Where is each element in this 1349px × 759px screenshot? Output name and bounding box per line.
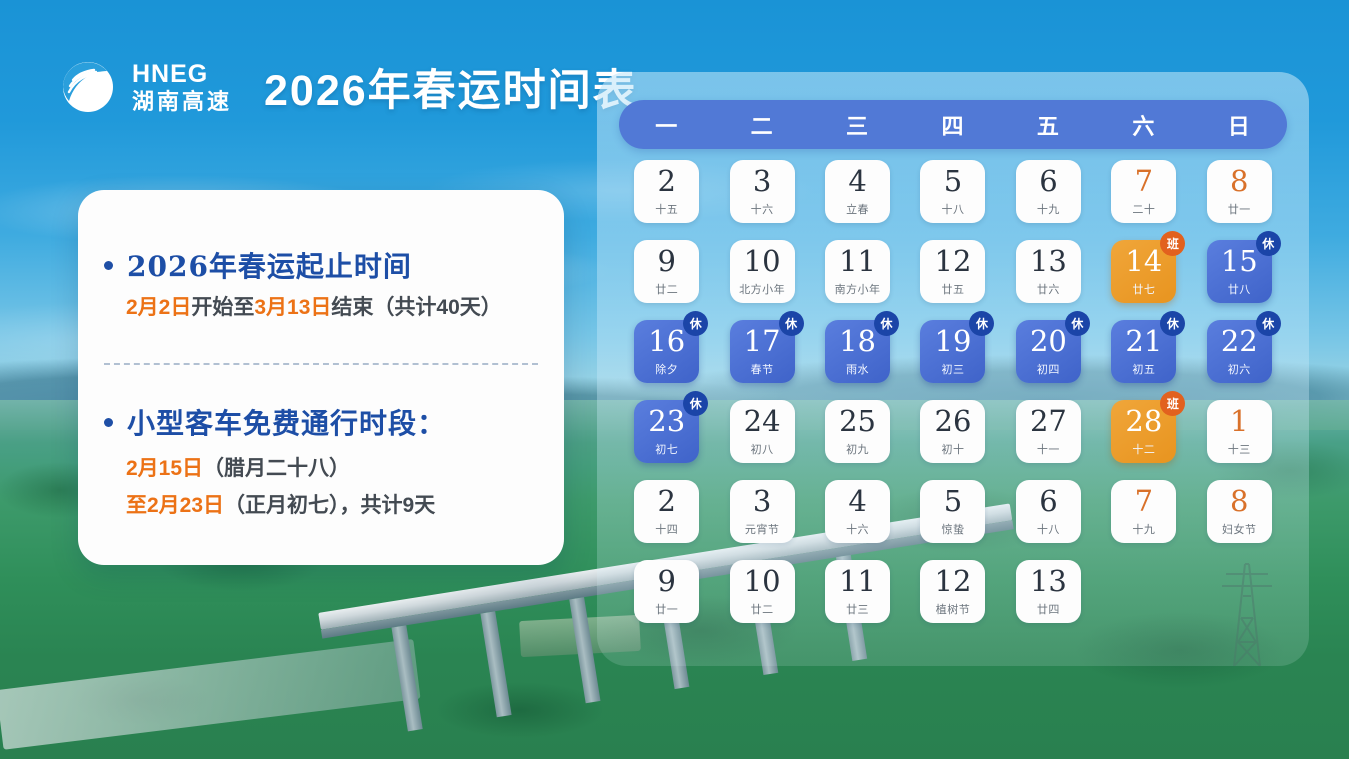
holiday-badge: 休: [1256, 311, 1281, 336]
calendar-day-cell[interactable]: 8廿一: [1207, 160, 1272, 223]
day-lunar-label: 十九: [1037, 201, 1060, 217]
weekday-label-4: 四: [905, 109, 1000, 141]
day-lunar-label: 立春: [846, 201, 869, 217]
day-lunar-label: 初五: [1132, 361, 1155, 377]
day-lunar-label: 廿五: [941, 281, 964, 297]
calendar-day-cell[interactable]: 3元宵节: [730, 480, 795, 543]
calendar-cell-wrap: 1十三: [1192, 400, 1287, 463]
day-number: 3: [753, 167, 771, 196]
day-number: 8: [1230, 487, 1248, 516]
calendar-cell-wrap: 20初四休: [1001, 320, 1096, 383]
day-number: 15: [1221, 247, 1258, 276]
holiday-badge: 休: [1256, 231, 1281, 256]
calendar-day-cell[interactable]: 10北方小年: [730, 240, 795, 303]
day-lunar-label: 廿七: [1132, 281, 1155, 297]
weekday-label-5: 五: [1001, 109, 1096, 141]
day-lunar-label: 初八: [751, 441, 774, 457]
day-number: 7: [1135, 167, 1153, 196]
calendar-cell-wrap: 6十九: [1001, 160, 1096, 223]
day-number: 12: [935, 247, 972, 276]
day-number: 19: [935, 327, 972, 356]
day-lunar-label: 十一: [1037, 441, 1060, 457]
section-2-heading: 小型客车免费通行时段：: [127, 402, 446, 442]
poster-canvas: HNEG 湖南高速 2026年春运时间表 2026年春运起止时间 2月2日开始至…: [0, 0, 1349, 759]
calendar-day-cell[interactable]: 23初七休: [634, 400, 699, 463]
brand-logotype: HNEG 湖南高速: [132, 62, 232, 113]
weekday-label-2: 二: [714, 109, 809, 141]
calendar-cell-wrap: 4立春: [810, 160, 905, 223]
calendar-day-cell[interactable]: 14廿七班: [1111, 240, 1176, 303]
day-number: 5: [944, 487, 962, 516]
calendar-cell-wrap: 7十九: [1096, 480, 1191, 543]
day-number: 3: [753, 487, 771, 516]
holiday-badge: 休: [1065, 311, 1090, 336]
calendar-cell-wrap: 13廿六: [1001, 240, 1096, 303]
calendar-day-cell[interactable]: 26初十: [920, 400, 985, 463]
day-lunar-label: 元宵节: [745, 521, 780, 537]
day-number: 1: [1230, 407, 1248, 436]
day-number: 2: [657, 167, 675, 196]
calendar-cell-wrap: 10廿二: [714, 560, 809, 623]
day-number: 22: [1221, 327, 1258, 356]
day-lunar-label: 初十: [941, 441, 964, 457]
day-number: 7: [1135, 487, 1153, 516]
day-number: 17: [744, 327, 781, 356]
section-1-body: 2月2日开始至3月13日结束（共计40天）: [126, 291, 502, 321]
section-1-heading: 2026年春运起止时间: [127, 245, 412, 285]
calendar-day-cell[interactable]: 9廿一: [634, 560, 699, 623]
day-lunar-label: 妇女节: [1222, 521, 1257, 537]
day-lunar-label: 廿四: [1037, 601, 1060, 617]
section-2-heading-row: 小型客车免费通行时段：: [104, 402, 446, 442]
day-lunar-label: 十三: [1228, 441, 1251, 457]
calendar-day-cell[interactable]: 8妇女节: [1207, 480, 1272, 543]
day-number: 28: [1125, 407, 1162, 436]
calendar-day-cell[interactable]: 17春节休: [730, 320, 795, 383]
calendar-cell-wrap: 26初十: [905, 400, 1000, 463]
calendar-day-cell[interactable]: 10廿二: [730, 560, 795, 623]
day-number: 6: [1039, 487, 1057, 516]
day-lunar-label: 植树节: [936, 601, 971, 617]
calendar-day-cell[interactable]: 13廿六: [1016, 240, 1081, 303]
calendar-day-cell[interactable]: 4立春: [825, 160, 890, 223]
calendar-cell-empty: [1207, 560, 1272, 623]
day-number: 23: [648, 407, 685, 436]
day-number: 8: [1230, 167, 1248, 196]
calendar-day-cell[interactable]: 27十一: [1016, 400, 1081, 463]
calendar-day-cell[interactable]: 1十三: [1207, 400, 1272, 463]
calendar-day-cell[interactable]: 2十五: [634, 160, 699, 223]
calendar-cell-wrap: 6十八: [1001, 480, 1096, 543]
calendar-cell-wrap: [1096, 560, 1191, 623]
accent-text: 2月2日: [126, 296, 191, 319]
day-lunar-label: 初九: [846, 441, 869, 457]
day-lunar-label: 廿六: [1037, 281, 1060, 297]
day-lunar-label: 二十: [1132, 201, 1155, 217]
calendar-cell-wrap: 16除夕休: [619, 320, 714, 383]
day-number: 13: [1030, 567, 1067, 596]
calendar-cell-wrap: 4十六: [810, 480, 905, 543]
day-lunar-label: 廿三: [846, 601, 869, 617]
calendar-day-cell[interactable]: 4十六: [825, 480, 890, 543]
day-number: 4: [848, 487, 866, 516]
day-lunar-label: 十二: [1132, 441, 1155, 457]
normal-text: 结束（共计40天）: [331, 296, 501, 319]
day-number: 27: [1030, 407, 1067, 436]
workday-badge: 班: [1160, 391, 1185, 416]
calendar-day-cell[interactable]: 3十六: [730, 160, 795, 223]
calendar-day-cell[interactable]: 25初九: [825, 400, 890, 463]
day-lunar-label: 初四: [1037, 361, 1060, 377]
day-number: 20: [1030, 327, 1067, 356]
calendar-day-cell[interactable]: 6十九: [1016, 160, 1081, 223]
calendar-cell-wrap: 5十八: [905, 160, 1000, 223]
brand-logo-cn: 湖南高速: [132, 91, 232, 113]
accent-text: 至2月23日: [126, 494, 224, 517]
calendar-day-cell[interactable]: 24初八: [730, 400, 795, 463]
bullet-dot-icon: [104, 418, 113, 427]
calendar-cell-wrap: 18雨水休: [810, 320, 905, 383]
card-divider: [104, 363, 538, 365]
day-number: 13: [1030, 247, 1067, 276]
holiday-badge: 休: [683, 311, 708, 336]
day-lunar-label: 初六: [1228, 361, 1251, 377]
weekday-label-6: 六: [1096, 109, 1191, 141]
day-number: 2: [657, 487, 675, 516]
brand-header: HNEG 湖南高速 2026年春运时间表: [62, 56, 638, 118]
day-lunar-label: 廿二: [655, 281, 678, 297]
calendar-cell-wrap: 27十一: [1001, 400, 1096, 463]
calendar-cell-wrap: 17春节休: [714, 320, 809, 383]
day-number: 25: [839, 407, 876, 436]
day-number: 16: [648, 327, 685, 356]
calendar-cell-wrap: 8廿一: [1192, 160, 1287, 223]
calendar-day-cell[interactable]: 15廿八休: [1207, 240, 1272, 303]
calendar-cell-wrap: 3元宵节: [714, 480, 809, 543]
day-lunar-label: 廿一: [655, 601, 678, 617]
calendar-cell-wrap: 8妇女节: [1192, 480, 1287, 543]
calendar-day-cell[interactable]: 13廿四: [1016, 560, 1081, 623]
weekday-label-3: 三: [810, 109, 905, 141]
calendar-day-cell[interactable]: 16除夕休: [634, 320, 699, 383]
day-lunar-label: 十八: [941, 201, 964, 217]
calendar-cell-wrap: 11廿三: [810, 560, 905, 623]
day-lunar-label: 十五: [655, 201, 678, 217]
calendar-weekday-header: 一二三四五六日: [619, 100, 1287, 149]
day-lunar-label: 春节: [751, 361, 774, 377]
calendar-day-cell[interactable]: 28十二班: [1111, 400, 1176, 463]
section-2-line-2: 至2月23日（正月初七），共计9天: [126, 489, 435, 519]
accent-text: 2月15日: [126, 457, 203, 480]
day-number: 9: [657, 247, 675, 276]
day-number: 24: [744, 407, 781, 436]
holiday-badge: 休: [874, 311, 899, 336]
holiday-badge: 休: [1160, 311, 1185, 336]
normal-text: 开始至: [191, 296, 254, 319]
calendar-cell-wrap: 9廿一: [619, 560, 714, 623]
day-number: 10: [744, 247, 781, 276]
day-lunar-label: 十六: [751, 201, 774, 217]
holiday-badge: 休: [683, 391, 708, 416]
page-title: 2026年春运时间表: [264, 56, 638, 118]
day-lunar-label: 初七: [655, 441, 678, 457]
bullet-dot-icon: [104, 261, 113, 270]
calendar-cell-wrap: 5惊蛰: [905, 480, 1000, 543]
calendar-day-cell[interactable]: 11廿三: [825, 560, 890, 623]
day-lunar-label: 十八: [1037, 521, 1060, 537]
day-lunar-label: 十六: [846, 521, 869, 537]
calendar-day-cell[interactable]: 5惊蛰: [920, 480, 985, 543]
day-number: 6: [1039, 167, 1057, 196]
day-lunar-label: 初三: [941, 361, 964, 377]
holiday-badge: 休: [969, 311, 994, 336]
calendar-day-cell[interactable]: 12植树节: [920, 560, 985, 623]
calendar-cell-wrap: 14廿七班: [1096, 240, 1191, 303]
calendar-day-cell[interactable]: 7二十: [1111, 160, 1176, 223]
day-lunar-label: 廿一: [1228, 201, 1251, 217]
day-lunar-label: 十四: [655, 521, 678, 537]
calendar-cell-wrap: 2十五: [619, 160, 714, 223]
day-number: 5: [944, 167, 962, 196]
calendar-day-cell[interactable]: 11南方小年: [825, 240, 890, 303]
weekday-label-1: 一: [619, 109, 714, 141]
day-lunar-label: 廿二: [751, 601, 774, 617]
calendar-day-cell[interactable]: 22初六休: [1207, 320, 1272, 383]
calendar-day-cell[interactable]: 6十八: [1016, 480, 1081, 543]
calendar-cell-wrap: 12植树节: [905, 560, 1000, 623]
day-lunar-label: 惊蛰: [941, 521, 964, 537]
calendar-cell-wrap: 13廿四: [1001, 560, 1096, 623]
calendar-day-cell[interactable]: 21初五休: [1111, 320, 1176, 383]
day-lunar-label: 雨水: [846, 361, 869, 377]
day-number: 12: [935, 567, 972, 596]
calendar: 一二三四五六日 2十五3十六4立春5十八6十九7二十8廿一9廿二10北方小年11…: [619, 100, 1287, 623]
calendar-day-cell[interactable]: 19初三休: [920, 320, 985, 383]
day-number: 14: [1125, 247, 1162, 276]
day-number: 11: [839, 567, 876, 596]
day-number: 18: [839, 327, 876, 356]
weekday-label-7: 日: [1192, 109, 1287, 141]
info-card: 2026年春运起止时间 2月2日开始至3月13日结束（共计40天） 小型客车免费…: [78, 190, 564, 565]
calendar-cell-wrap: 21初五休: [1096, 320, 1191, 383]
calendar-day-cell[interactable]: 2十四: [634, 480, 699, 543]
section-1-heading-row: 2026年春运起止时间: [104, 245, 412, 285]
day-number: 10: [744, 567, 781, 596]
calendar-cell-wrap: [1192, 560, 1287, 623]
calendar-day-cell[interactable]: 18雨水休: [825, 320, 890, 383]
day-number: 4: [848, 167, 866, 196]
workday-badge: 班: [1160, 231, 1185, 256]
holiday-badge: 休: [779, 311, 804, 336]
accent-text: 3月13日: [254, 296, 331, 319]
day-lunar-label: 除夕: [655, 361, 678, 377]
day-lunar-label: 廿八: [1228, 281, 1251, 297]
day-number: 26: [935, 407, 972, 436]
calendar-cell-wrap: 22初六休: [1192, 320, 1287, 383]
hneg-swoosh-logo-icon: [62, 61, 114, 113]
calendar-grid: 2十五3十六4立春5十八6十九7二十8廿一9廿二10北方小年11南方小年12廿五…: [619, 160, 1287, 623]
calendar-cell-wrap: 10北方小年: [714, 240, 809, 303]
calendar-day-cell[interactable]: 20初四休: [1016, 320, 1081, 383]
day-lunar-label: 南方小年: [835, 281, 881, 297]
calendar-cell-wrap: 15廿八休: [1192, 240, 1287, 303]
calendar-day-cell[interactable]: 5十八: [920, 160, 985, 223]
calendar-cell-wrap: 25初九: [810, 400, 905, 463]
section-2-line-1: 2月15日（腊月二十八）: [126, 452, 350, 482]
calendar-cell-wrap: 28十二班: [1096, 400, 1191, 463]
day-number: 9: [657, 567, 675, 596]
brand-logo-en: HNEG: [132, 62, 232, 87]
normal-text: （正月初七），共计9天: [224, 494, 435, 517]
calendar-cell-wrap: 24初八: [714, 400, 809, 463]
calendar-cell-empty: [1111, 560, 1176, 623]
calendar-day-cell[interactable]: 7十九: [1111, 480, 1176, 543]
calendar-cell-wrap: 23初七休: [619, 400, 714, 463]
day-number: 21: [1125, 327, 1162, 356]
calendar-cell-wrap: 7二十: [1096, 160, 1191, 223]
day-lunar-label: 十九: [1132, 521, 1155, 537]
calendar-cell-wrap: 11南方小年: [810, 240, 905, 303]
day-number: 11: [839, 247, 876, 276]
calendar-cell-wrap: 12廿五: [905, 240, 1000, 303]
day-lunar-label: 北方小年: [739, 281, 785, 297]
calendar-day-cell[interactable]: 12廿五: [920, 240, 985, 303]
calendar-cell-wrap: 2十四: [619, 480, 714, 543]
calendar-day-cell[interactable]: 9廿二: [634, 240, 699, 303]
normal-text: （腊月二十八）: [203, 457, 350, 480]
calendar-cell-wrap: 3十六: [714, 160, 809, 223]
calendar-cell-wrap: 19初三休: [905, 320, 1000, 383]
calendar-cell-wrap: 9廿二: [619, 240, 714, 303]
